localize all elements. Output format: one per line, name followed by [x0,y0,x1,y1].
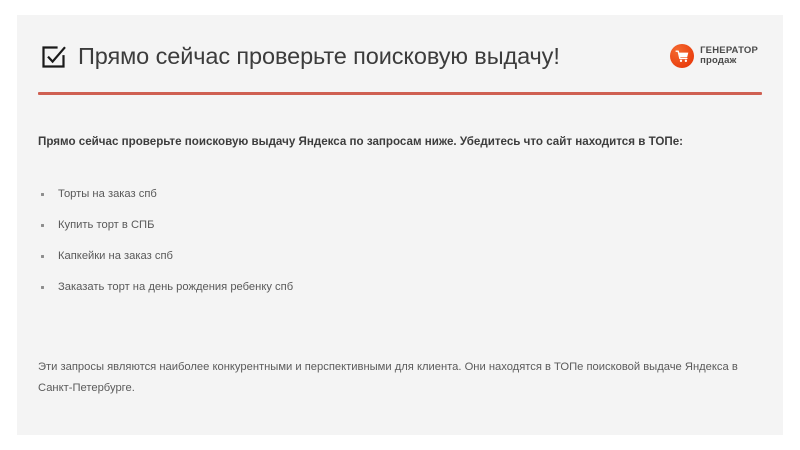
header-divider [38,92,762,95]
page-title: Прямо сейчас проверьте поисковую выдачу! [78,42,656,70]
header-row: Прямо сейчас проверьте поисковую выдачу!… [38,33,762,79]
brand-logo-text: ГЕНЕРАТОР продаж [700,46,758,66]
brand-logo-line2: продаж [700,56,758,66]
bullet-icon [41,224,44,227]
list-item-label: Купить торт в СПБ [58,218,688,232]
slide-canvas: Прямо сейчас проверьте поисковую выдачу!… [17,15,783,435]
query-list: Торты на заказ спб Купить торт в СПБ Кап… [38,187,688,311]
bullet-icon [41,255,44,258]
list-item: Купить торт в СПБ [38,218,688,249]
list-item-label: Капкейки на заказ спб [58,249,688,263]
bullet-icon [41,286,44,289]
intro-paragraph: Прямо сейчас проверьте поисковую выдачу … [38,133,748,150]
list-item: Торты на заказ спб [38,187,688,218]
shopping-cart-icon [670,44,694,68]
checkbox-checked-icon [38,42,68,72]
brand-logo: ГЕНЕРАТОР продаж [670,44,762,68]
list-item-label: Торты на заказ спб [58,187,688,201]
slide-header: Прямо сейчас проверьте поисковую выдачу!… [38,33,762,95]
list-item: Заказать торт на день рождения ребенку с… [38,280,688,311]
list-item: Капкейки на заказ спб [38,249,688,280]
list-item-label: Заказать торт на день рождения ребенку с… [58,280,688,294]
bullet-icon [41,193,44,196]
outro-paragraph: Эти запросы являются наиболее конкурентн… [38,357,738,399]
